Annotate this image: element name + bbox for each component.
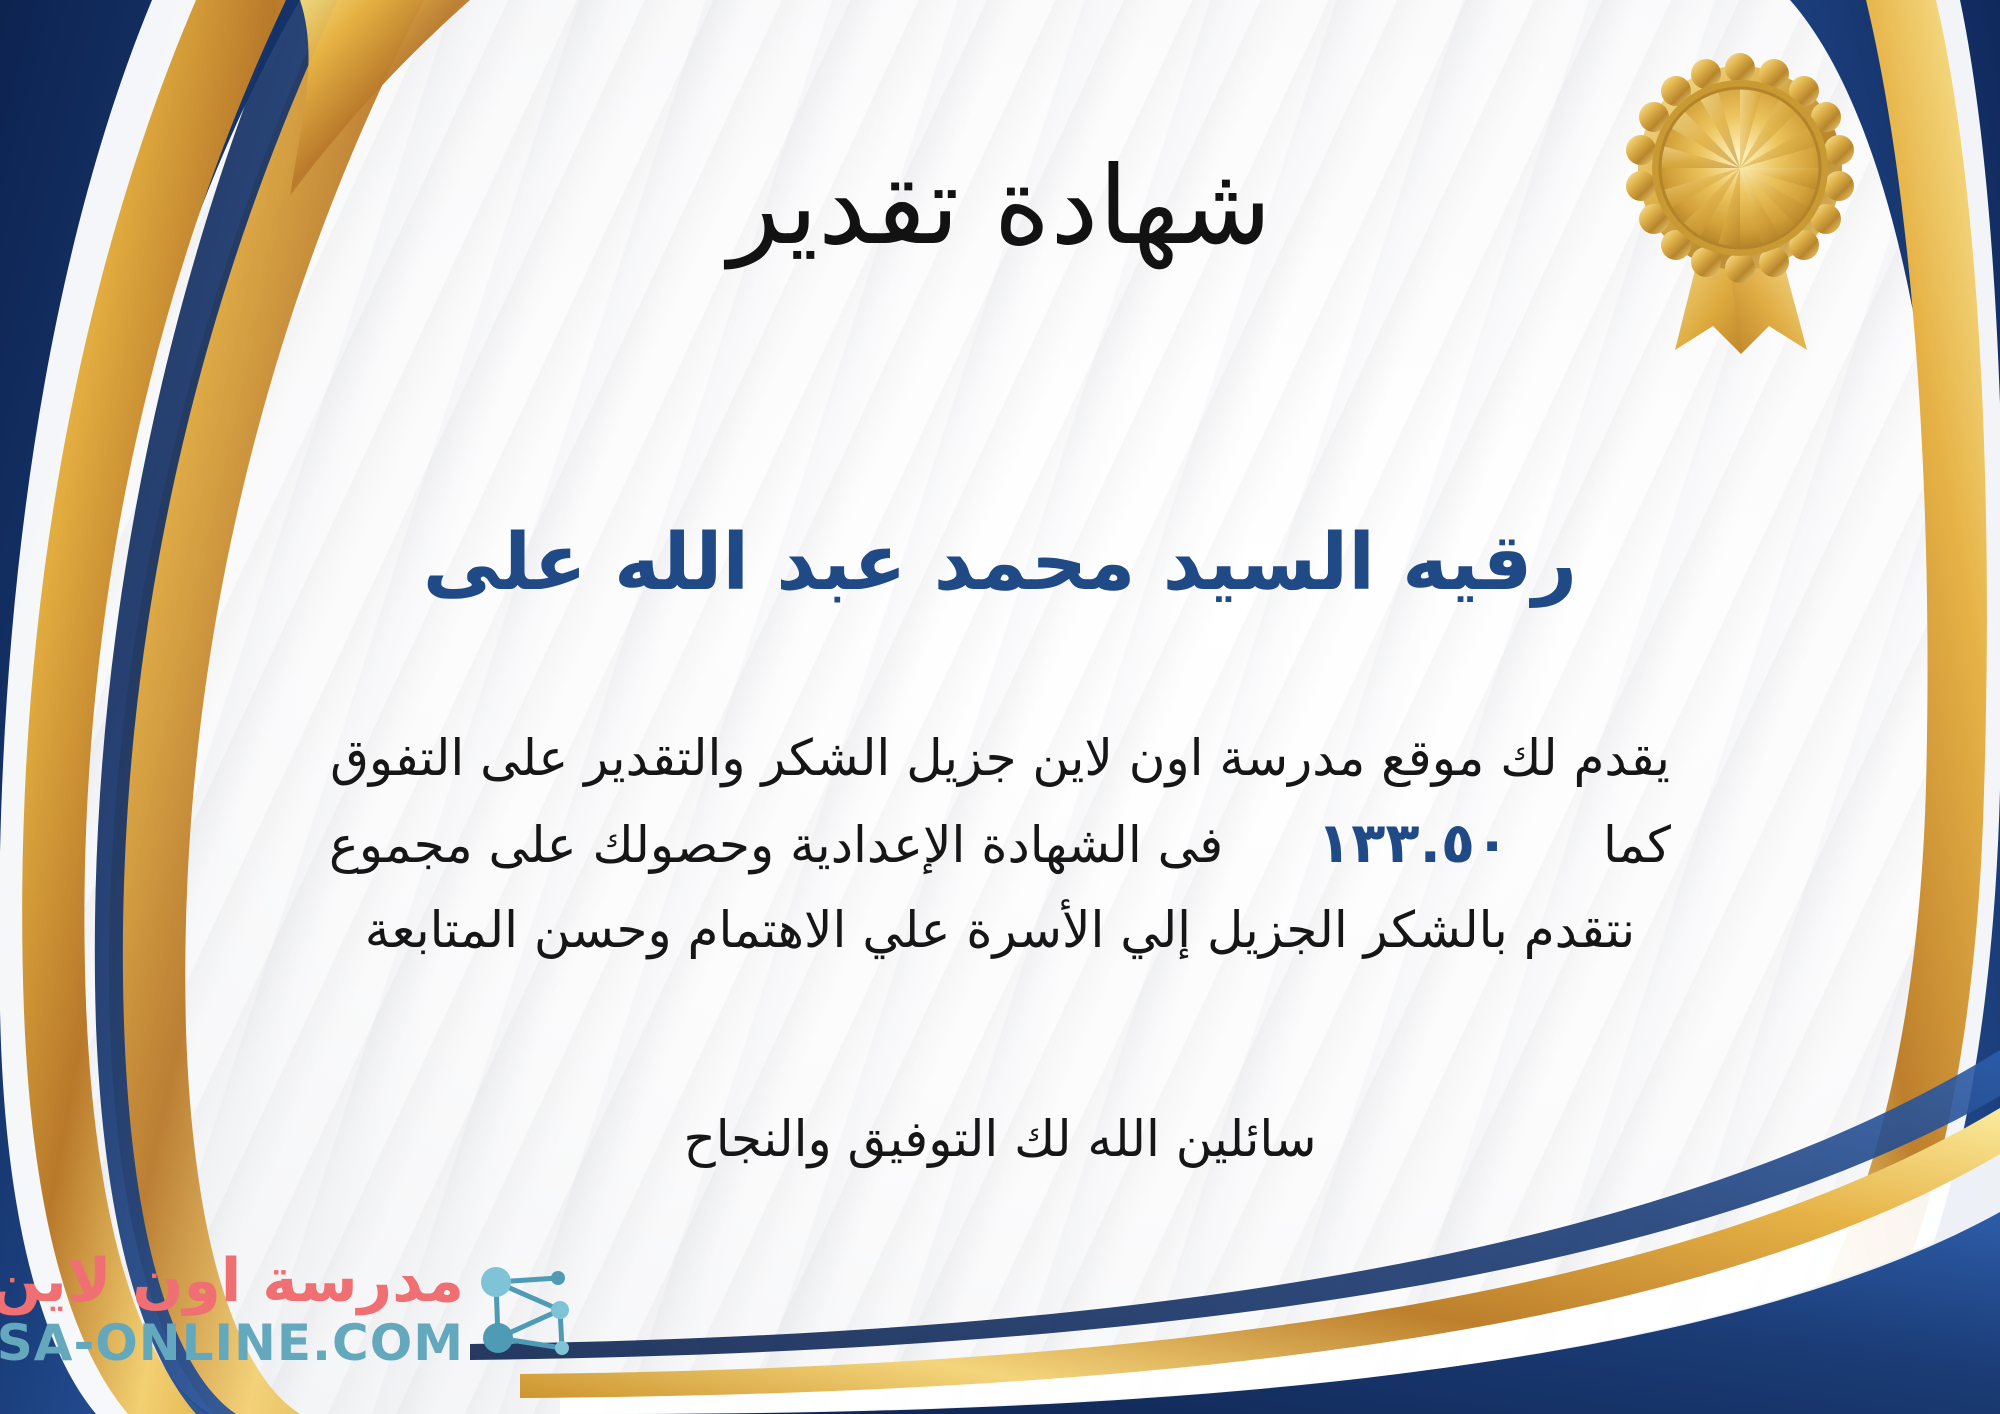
grade-total-value: ١٣٣.٥٠ bbox=[1301, 811, 1525, 876]
body-line-2: كما ١٣٣.٥٠ فى الشهادة الإعدادية وحصولك ع… bbox=[40, 799, 1960, 890]
body-line-2-after-grade: كما bbox=[1603, 816, 1671, 874]
certificate-page: شهادة تقدير رقيه السيد محمد عبد الله على… bbox=[0, 0, 2000, 1414]
certificate-title: شهادة تقدير bbox=[0, 142, 2000, 272]
body-line-2-before-grade: فى الشهادة الإعدادية وحصولك على مجموع bbox=[329, 816, 1223, 874]
brand-logo[interactable]: مدرسة اون لاين MADRSA-ONLINE.COM bbox=[24, 1242, 584, 1392]
closing-wish: سائلين الله لك التوفيق والنجاح bbox=[0, 1110, 2000, 1168]
body-line-1: يقدم لك موقع مدرسة اون لاين جزيل الشكر و… bbox=[40, 718, 1960, 799]
recipient-name: رقيه السيد محمد عبد الله على bbox=[0, 515, 2000, 613]
body-line-3: نتقدم بالشكر الجزيل إلي الأسرة علي الاهت… bbox=[40, 890, 1960, 971]
brand-website-url: MADRSA-ONLINE.COM bbox=[0, 1314, 464, 1372]
network-nodes-icon bbox=[472, 1252, 584, 1372]
certificate-body: يقدم لك موقع مدرسة اون لاين جزيل الشكر و… bbox=[40, 718, 1960, 971]
brand-name-arabic: مدرسة اون لاين bbox=[0, 1246, 464, 1316]
